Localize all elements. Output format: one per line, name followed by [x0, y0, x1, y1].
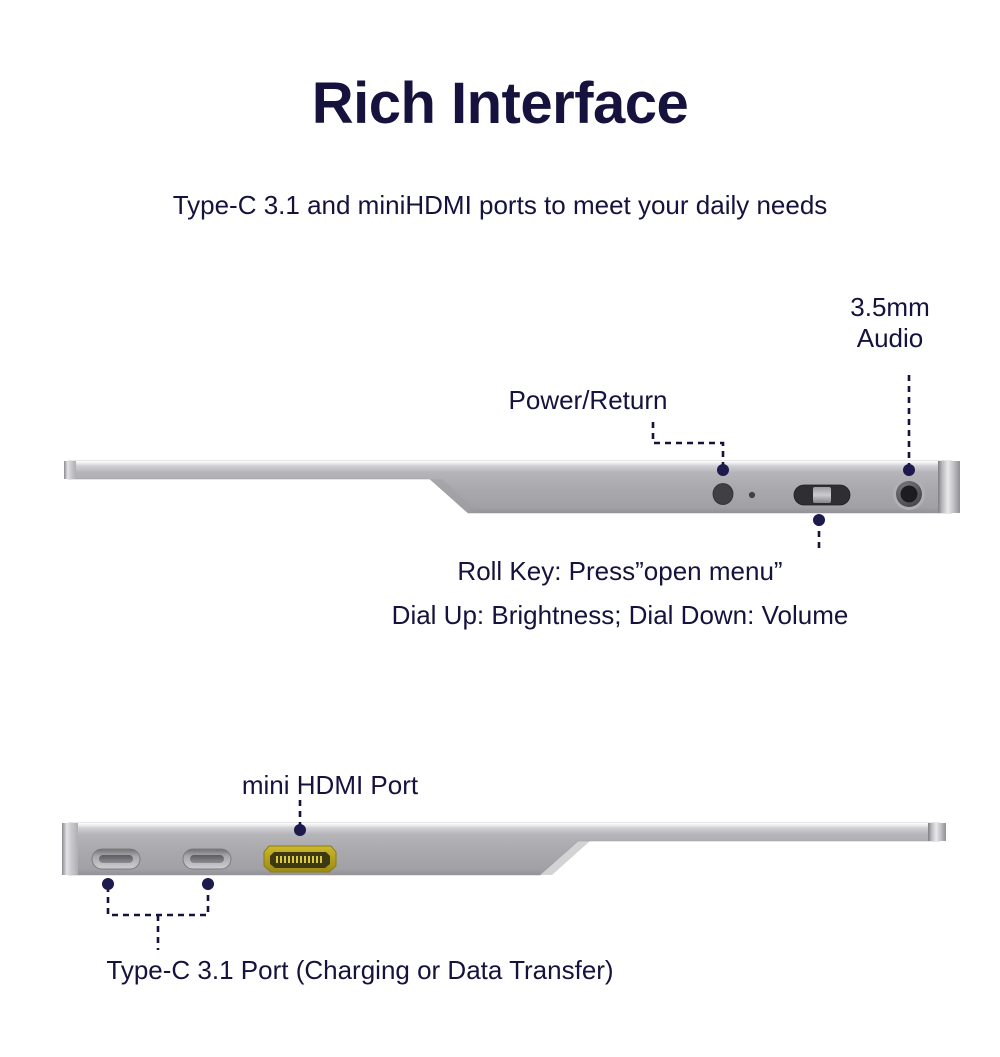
roll-key-wheel[interactable] — [813, 487, 831, 503]
product-interface-diagram: Rich Interface Type-C 3.1 and miniHDMI p… — [0, 0, 1000, 1057]
marker-dot-type-c-1 — [102, 878, 114, 890]
type-c-port-2-slot — [190, 855, 224, 863]
audio-jack-hole — [901, 486, 918, 503]
bottom-device-left-cap — [62, 823, 78, 875]
type-c-port-1-slot — [99, 855, 133, 863]
marker-dot-mini-hdmi — [294, 824, 306, 836]
marker-dot-audio — [903, 464, 915, 476]
top-device-top-highlight — [68, 461, 952, 465]
device-illustration-layer — [0, 0, 1000, 1057]
marker-dot-roll-key — [813, 514, 825, 526]
bottom-device-ports — [92, 846, 336, 872]
leader-type-c-bracket — [108, 886, 208, 915]
marker-dot-power-return — [717, 464, 729, 476]
indicator-led — [749, 492, 755, 498]
top-device-right-cap — [938, 461, 960, 513]
marker-dot-type-c-2 — [202, 878, 214, 890]
bottom-device-right-cap — [928, 823, 946, 841]
top-device-left-cap — [64, 461, 76, 479]
power-button[interactable] — [713, 484, 733, 505]
bottom-device-top-highlight — [68, 823, 940, 827]
top-device-bevel — [468, 506, 952, 513]
